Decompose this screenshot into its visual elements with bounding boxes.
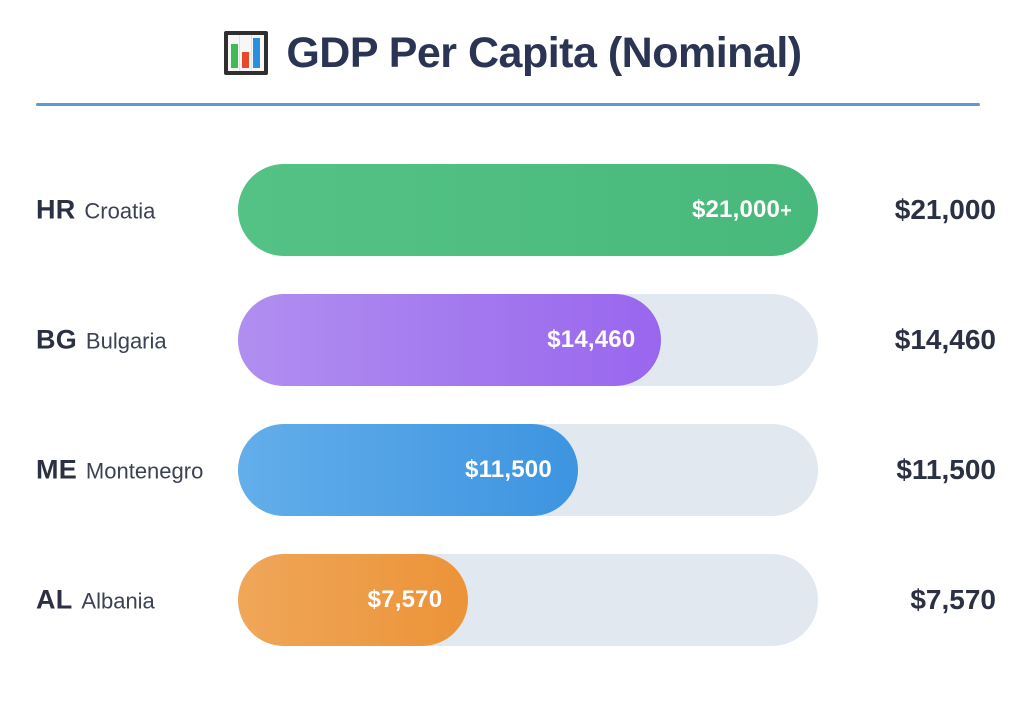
bar-montenegro[interactable]: $11,500 [238, 424, 578, 516]
bar-track: $11,500 [238, 424, 818, 516]
header-divider [36, 103, 980, 106]
table-row: AL Albania $7,570 $7,570 [0, 535, 1024, 665]
table-row: HR Croatia $21,000+ $21,000 [0, 145, 1024, 275]
country-name: Bulgaria [86, 329, 167, 355]
row-total-bulgaria: $14,460 [895, 324, 996, 356]
row-total-albania: $7,570 [910, 584, 996, 616]
chart-header: GDP Per Capita (Nominal) [0, 0, 1024, 100]
country-name: Croatia [84, 199, 155, 225]
bar-value-label: $14,460 [547, 326, 635, 354]
country-code: HR [36, 195, 75, 226]
row-label-montenegro: ME Montenegro [36, 455, 203, 486]
row-total-croatia: $21,000 [895, 194, 996, 226]
country-code: AL [36, 585, 72, 616]
gdp-bar-chart: HR Croatia $21,000+ $21,000 BG Bulgaria … [0, 145, 1024, 665]
bar-track: $7,570 [238, 554, 818, 646]
row-total-montenegro: $11,500 [896, 454, 996, 486]
bar-value-label: $7,570 [368, 586, 443, 614]
bar-albania[interactable]: $7,570 [238, 554, 468, 646]
bar-value-label: $21,000+ [692, 196, 792, 224]
row-label-croatia: HR Croatia [36, 195, 155, 226]
country-name: Albania [81, 589, 154, 615]
row-label-albania: AL Albania [36, 585, 155, 616]
bar-bulgaria[interactable]: $14,460 [238, 294, 661, 386]
bar-track: $14,460 [238, 294, 818, 386]
bar-value-label: $11,500 [465, 456, 552, 484]
country-code: BG [36, 325, 77, 356]
row-label-bulgaria: BG Bulgaria [36, 325, 167, 356]
bar-track: $21,000+ [238, 164, 818, 256]
bar-croatia[interactable]: $21,000+ [238, 164, 818, 256]
table-row: ME Montenegro $11,500 $11,500 [0, 405, 1024, 535]
page-title: GDP Per Capita (Nominal) [286, 32, 801, 75]
table-row: BG Bulgaria $14,460 $14,460 [0, 275, 1024, 405]
country-code: ME [36, 455, 77, 486]
bar-chart-icon [222, 29, 270, 77]
country-name: Montenegro [86, 459, 203, 485]
